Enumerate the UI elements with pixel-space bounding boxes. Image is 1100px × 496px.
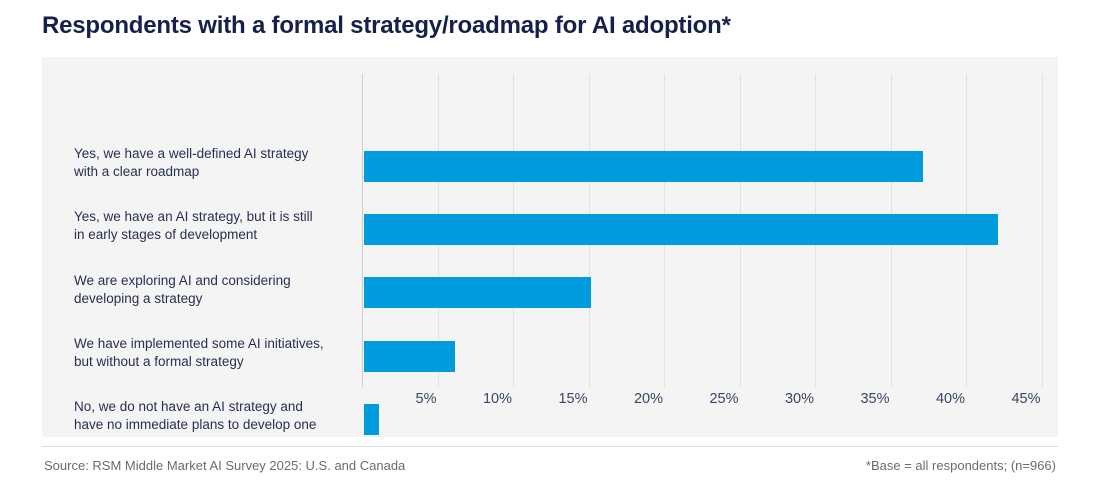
category-label-4: No, we do not have an AI strategy and ha… xyxy=(74,398,364,434)
x-tick-45%: 45% xyxy=(1011,391,1042,407)
footer-divider xyxy=(42,446,1058,447)
category-label-0-line-0: Yes, we have a well-defined AI strategy xyxy=(74,145,364,163)
category-label-0-line-1: with a clear roadmap xyxy=(74,163,364,181)
bar-0 xyxy=(364,151,923,182)
category-label-4-line-0: No, we do not have an AI strategy and xyxy=(74,398,364,416)
category-label-3-line-0: We have implemented some AI initiatives, xyxy=(74,335,364,353)
plot-area: 5%10%15%20%25%30%35%40%45% xyxy=(362,57,1058,437)
category-label-4-line-1: have no immediate plans to develop one xyxy=(74,416,364,434)
category-label-3-line-1: but without a formal strategy xyxy=(74,353,364,371)
category-label-1-line-0: Yes, we have an AI strategy, but it is s… xyxy=(74,208,364,226)
bar-3 xyxy=(364,341,455,372)
x-axis-tick-labels: 5%10%15%20%25%30%35%40%45% xyxy=(362,391,1058,419)
category-labels: Yes, we have a well-defined AI strategy … xyxy=(42,57,342,437)
x-tick-30%: 30% xyxy=(785,391,816,407)
x-tick-5%: 5% xyxy=(416,391,439,407)
x-tick-10%: 10% xyxy=(483,391,514,407)
chart-page: Respondents with a formal strategy/roadm… xyxy=(0,0,1100,496)
category-label-2-line-0: We are exploring AI and considering xyxy=(74,272,364,290)
category-label-2: We are exploring AI and considering deve… xyxy=(74,272,364,308)
x-tick-40%: 40% xyxy=(936,391,967,407)
source-note: Source: RSM Middle Market AI Survey 2025… xyxy=(44,458,405,473)
page-title: Respondents with a formal strategy/roadm… xyxy=(42,12,731,40)
category-label-0: Yes, we have a well-defined AI strategy … xyxy=(74,145,364,181)
x-tick-15%: 15% xyxy=(558,391,589,407)
category-label-1-line-1: in early stages of development xyxy=(74,226,364,244)
category-label-3: We have implemented some AI initiatives,… xyxy=(74,335,364,371)
chart-panel: Yes, we have a well-defined AI strategy … xyxy=(42,57,1058,437)
x-tick-25%: 25% xyxy=(709,391,740,407)
category-label-2-line-1: developing a strategy xyxy=(74,290,364,308)
bar-2 xyxy=(364,277,591,308)
bar-series xyxy=(362,57,1058,387)
x-tick-35%: 35% xyxy=(860,391,891,407)
base-note: *Base = all respondents; (n=966) xyxy=(866,458,1056,473)
bar-1 xyxy=(364,214,998,245)
x-tick-20%: 20% xyxy=(634,391,665,407)
category-label-1: Yes, we have an AI strategy, but it is s… xyxy=(74,208,364,244)
